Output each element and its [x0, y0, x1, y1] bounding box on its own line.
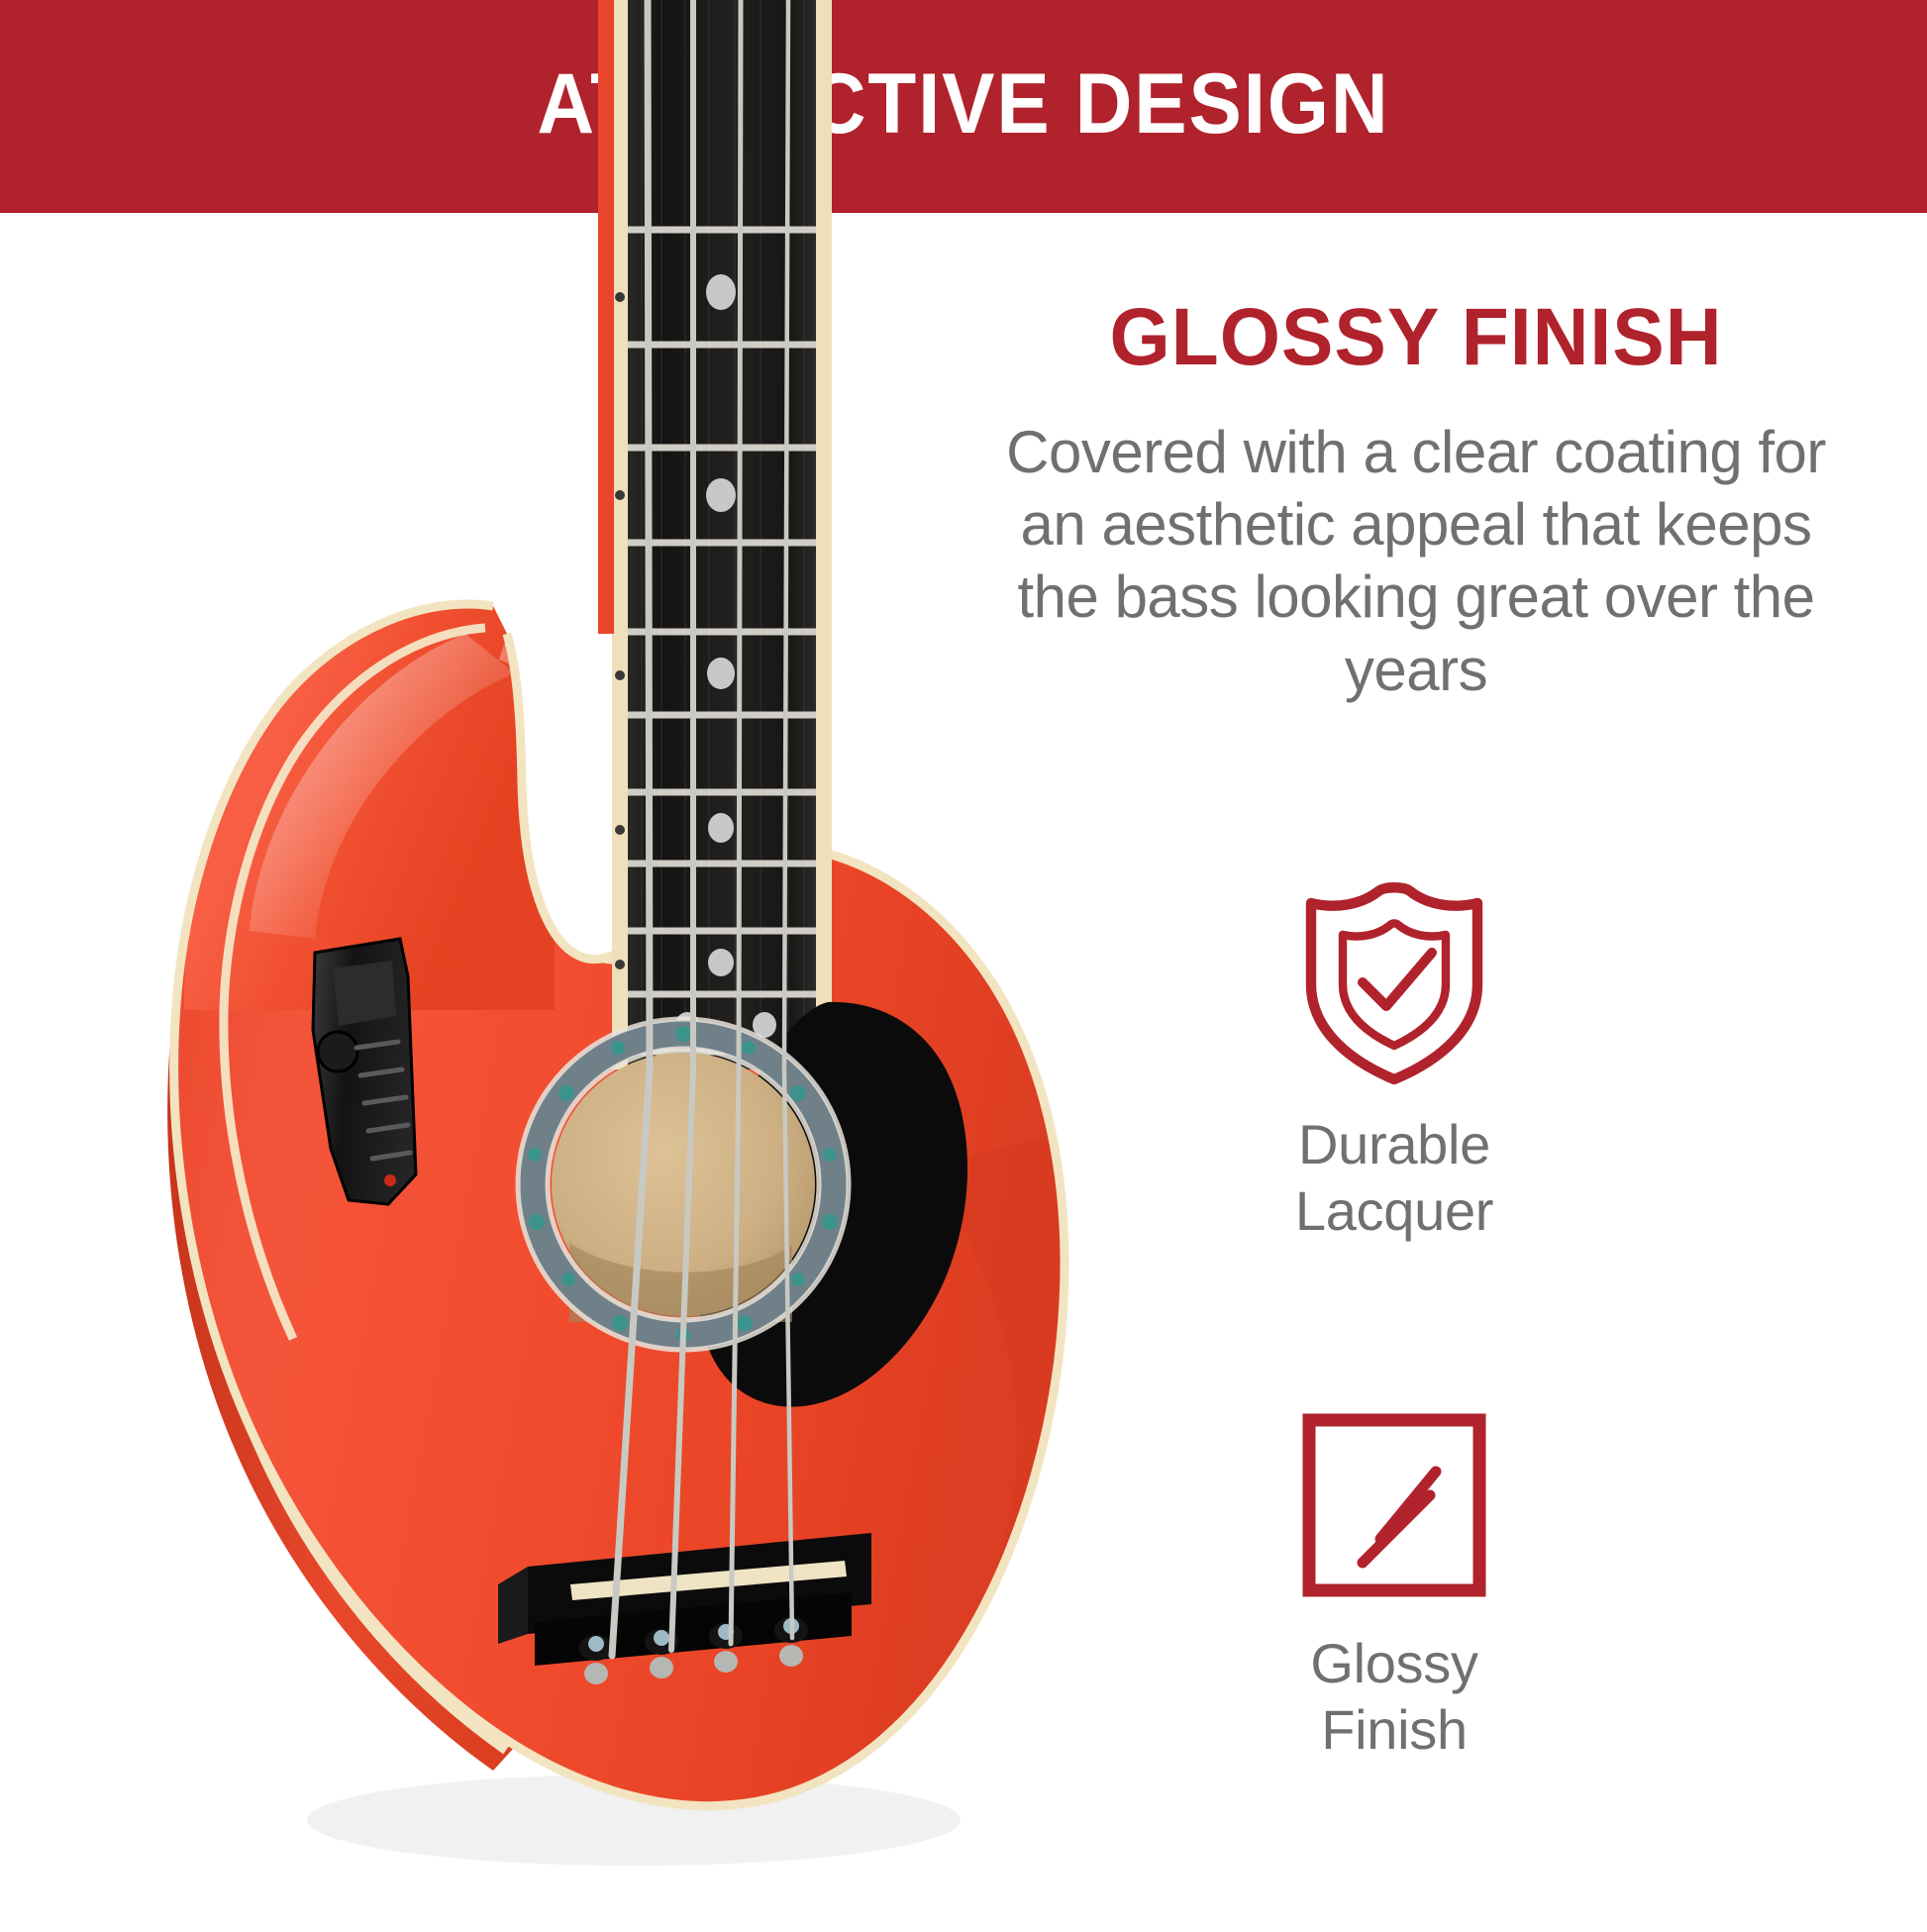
guitar-bridge — [498, 1533, 871, 1684]
bridge-pins — [579, 1617, 808, 1661]
guitar-strings — [612, 0, 792, 1656]
badge-label-line2: Lacquer — [1166, 1177, 1622, 1244]
eq-tuner-knob — [318, 1032, 357, 1071]
guitar-body-top — [174, 604, 1079, 1881]
bridge-pin-block — [535, 1592, 852, 1666]
soundboard-binding — [174, 604, 1065, 1806]
neck-side-dots — [615, 292, 625, 969]
rosette-ring — [533, 1034, 834, 1335]
badge-label-durable-lacquer: Durable Lacquer — [1166, 1111, 1622, 1244]
rosette-outer-line — [518, 1019, 849, 1350]
eq-preamp-unit — [313, 939, 416, 1204]
product-image-bass-guitar — [0, 0, 1188, 1927]
rosette-abalone — [528, 1026, 838, 1342]
bridge-saddle — [570, 1561, 847, 1600]
eq-led — [384, 1174, 396, 1186]
soundboard-purfling — [224, 628, 485, 1339]
cutaway-binding — [604, 858, 733, 960]
eq-sliders — [356, 1042, 410, 1159]
header-banner: ATTRACTIVE DESIGN — [0, 0, 1927, 213]
body-side-binding — [191, 705, 507, 1749]
pickguard — [697, 1002, 967, 1407]
badge-durable-lacquer: Durable Lacquer — [1166, 881, 1622, 1244]
body-gloss-reflection — [513, 624, 622, 818]
bridge-ferrules — [584, 1645, 803, 1684]
feature-text-block: GLOSSY FINISH Covered with a clear coati… — [951, 297, 1881, 706]
badge-label-line1: Glossy — [1166, 1630, 1622, 1696]
shield-check-icon — [1295, 881, 1493, 1085]
badge-label-line1: Durable — [1166, 1111, 1622, 1177]
gloss-square-icon — [1295, 1406, 1493, 1604]
frets — [628, 230, 816, 1052]
soundhole-bracing — [569, 1243, 792, 1322]
badge-label-line2: Finish — [1166, 1696, 1622, 1763]
badge-glossy-finish: Glossy Finish — [1166, 1406, 1622, 1763]
badge-label-glossy-finish: Glossy Finish — [1166, 1630, 1622, 1763]
page-title: ATTRACTIVE DESIGN — [537, 61, 1389, 147]
fret-inlay-dots — [675, 274, 776, 1038]
guitar-body-side — [167, 693, 535, 1771]
soundhole-interior — [552, 1053, 815, 1316]
feature-description: Covered with a clear coating for an aest… — [980, 416, 1852, 706]
feature-heading: GLOSSY FINISH — [969, 297, 1863, 378]
rosette-inner-line — [548, 1049, 819, 1320]
eq-display — [333, 961, 396, 1026]
sound-hole — [518, 1019, 849, 1350]
